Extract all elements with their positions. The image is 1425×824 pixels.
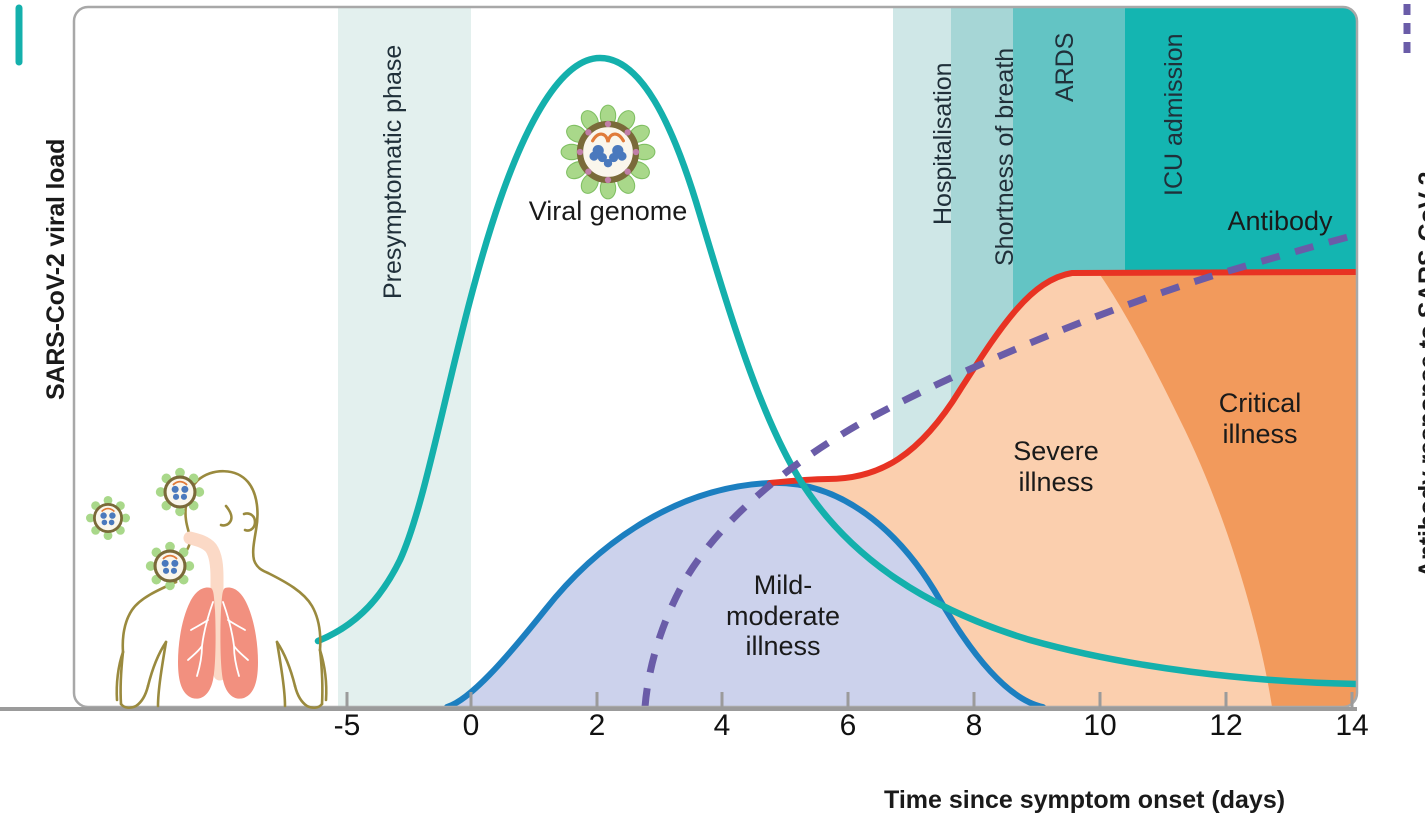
band-label-presymptomatic: Presymptomatic phase: [379, 45, 408, 299]
y-right-axis-title: Antibody response to SARS-CoV-2: [1414, 172, 1425, 578]
x-tick-10: 10: [1070, 709, 1130, 743]
x-tick-6: 6: [818, 709, 878, 743]
band-label-icu-admission: ICU admission: [1160, 33, 1189, 196]
mild-line-2: moderate: [690, 601, 876, 632]
x-tick-2: 2: [567, 709, 627, 743]
x-tick-4: 4: [692, 709, 752, 743]
mild-line-1: Mild-: [690, 570, 876, 601]
band-label-ards: ARDS: [1051, 33, 1080, 102]
critical-line-1: Critical: [1162, 388, 1358, 419]
severe-line-1: Severe: [960, 436, 1152, 467]
band-label-shortness-of-breath: Shortness of breath: [991, 48, 1020, 266]
x-tick-12: 12: [1196, 709, 1256, 743]
x-axis-title: Time since symptom onset (days): [884, 786, 1285, 815]
x-tick-14: 14: [1322, 709, 1382, 743]
x-tick-8: 8: [944, 709, 1004, 743]
band-label-hospitalisation: Hospitalisation: [929, 62, 958, 225]
antibody-label: Antibody: [1160, 206, 1400, 237]
viral-genome-label: Viral genome: [498, 196, 718, 227]
mild-moderate-illness-label: Mild- moderate illness: [690, 570, 876, 662]
severe-illness-label: Severe illness: [960, 436, 1152, 497]
x-tick--5: -5: [317, 709, 377, 743]
y-left-axis-title: SARS-CoV-2 viral load: [42, 139, 71, 400]
x-tick-0: 0: [441, 709, 501, 743]
critical-line-2: illness: [1162, 419, 1358, 450]
severe-line-2: illness: [960, 467, 1152, 498]
mild-line-3: illness: [690, 631, 876, 662]
critical-illness-label: Critical illness: [1162, 388, 1358, 449]
